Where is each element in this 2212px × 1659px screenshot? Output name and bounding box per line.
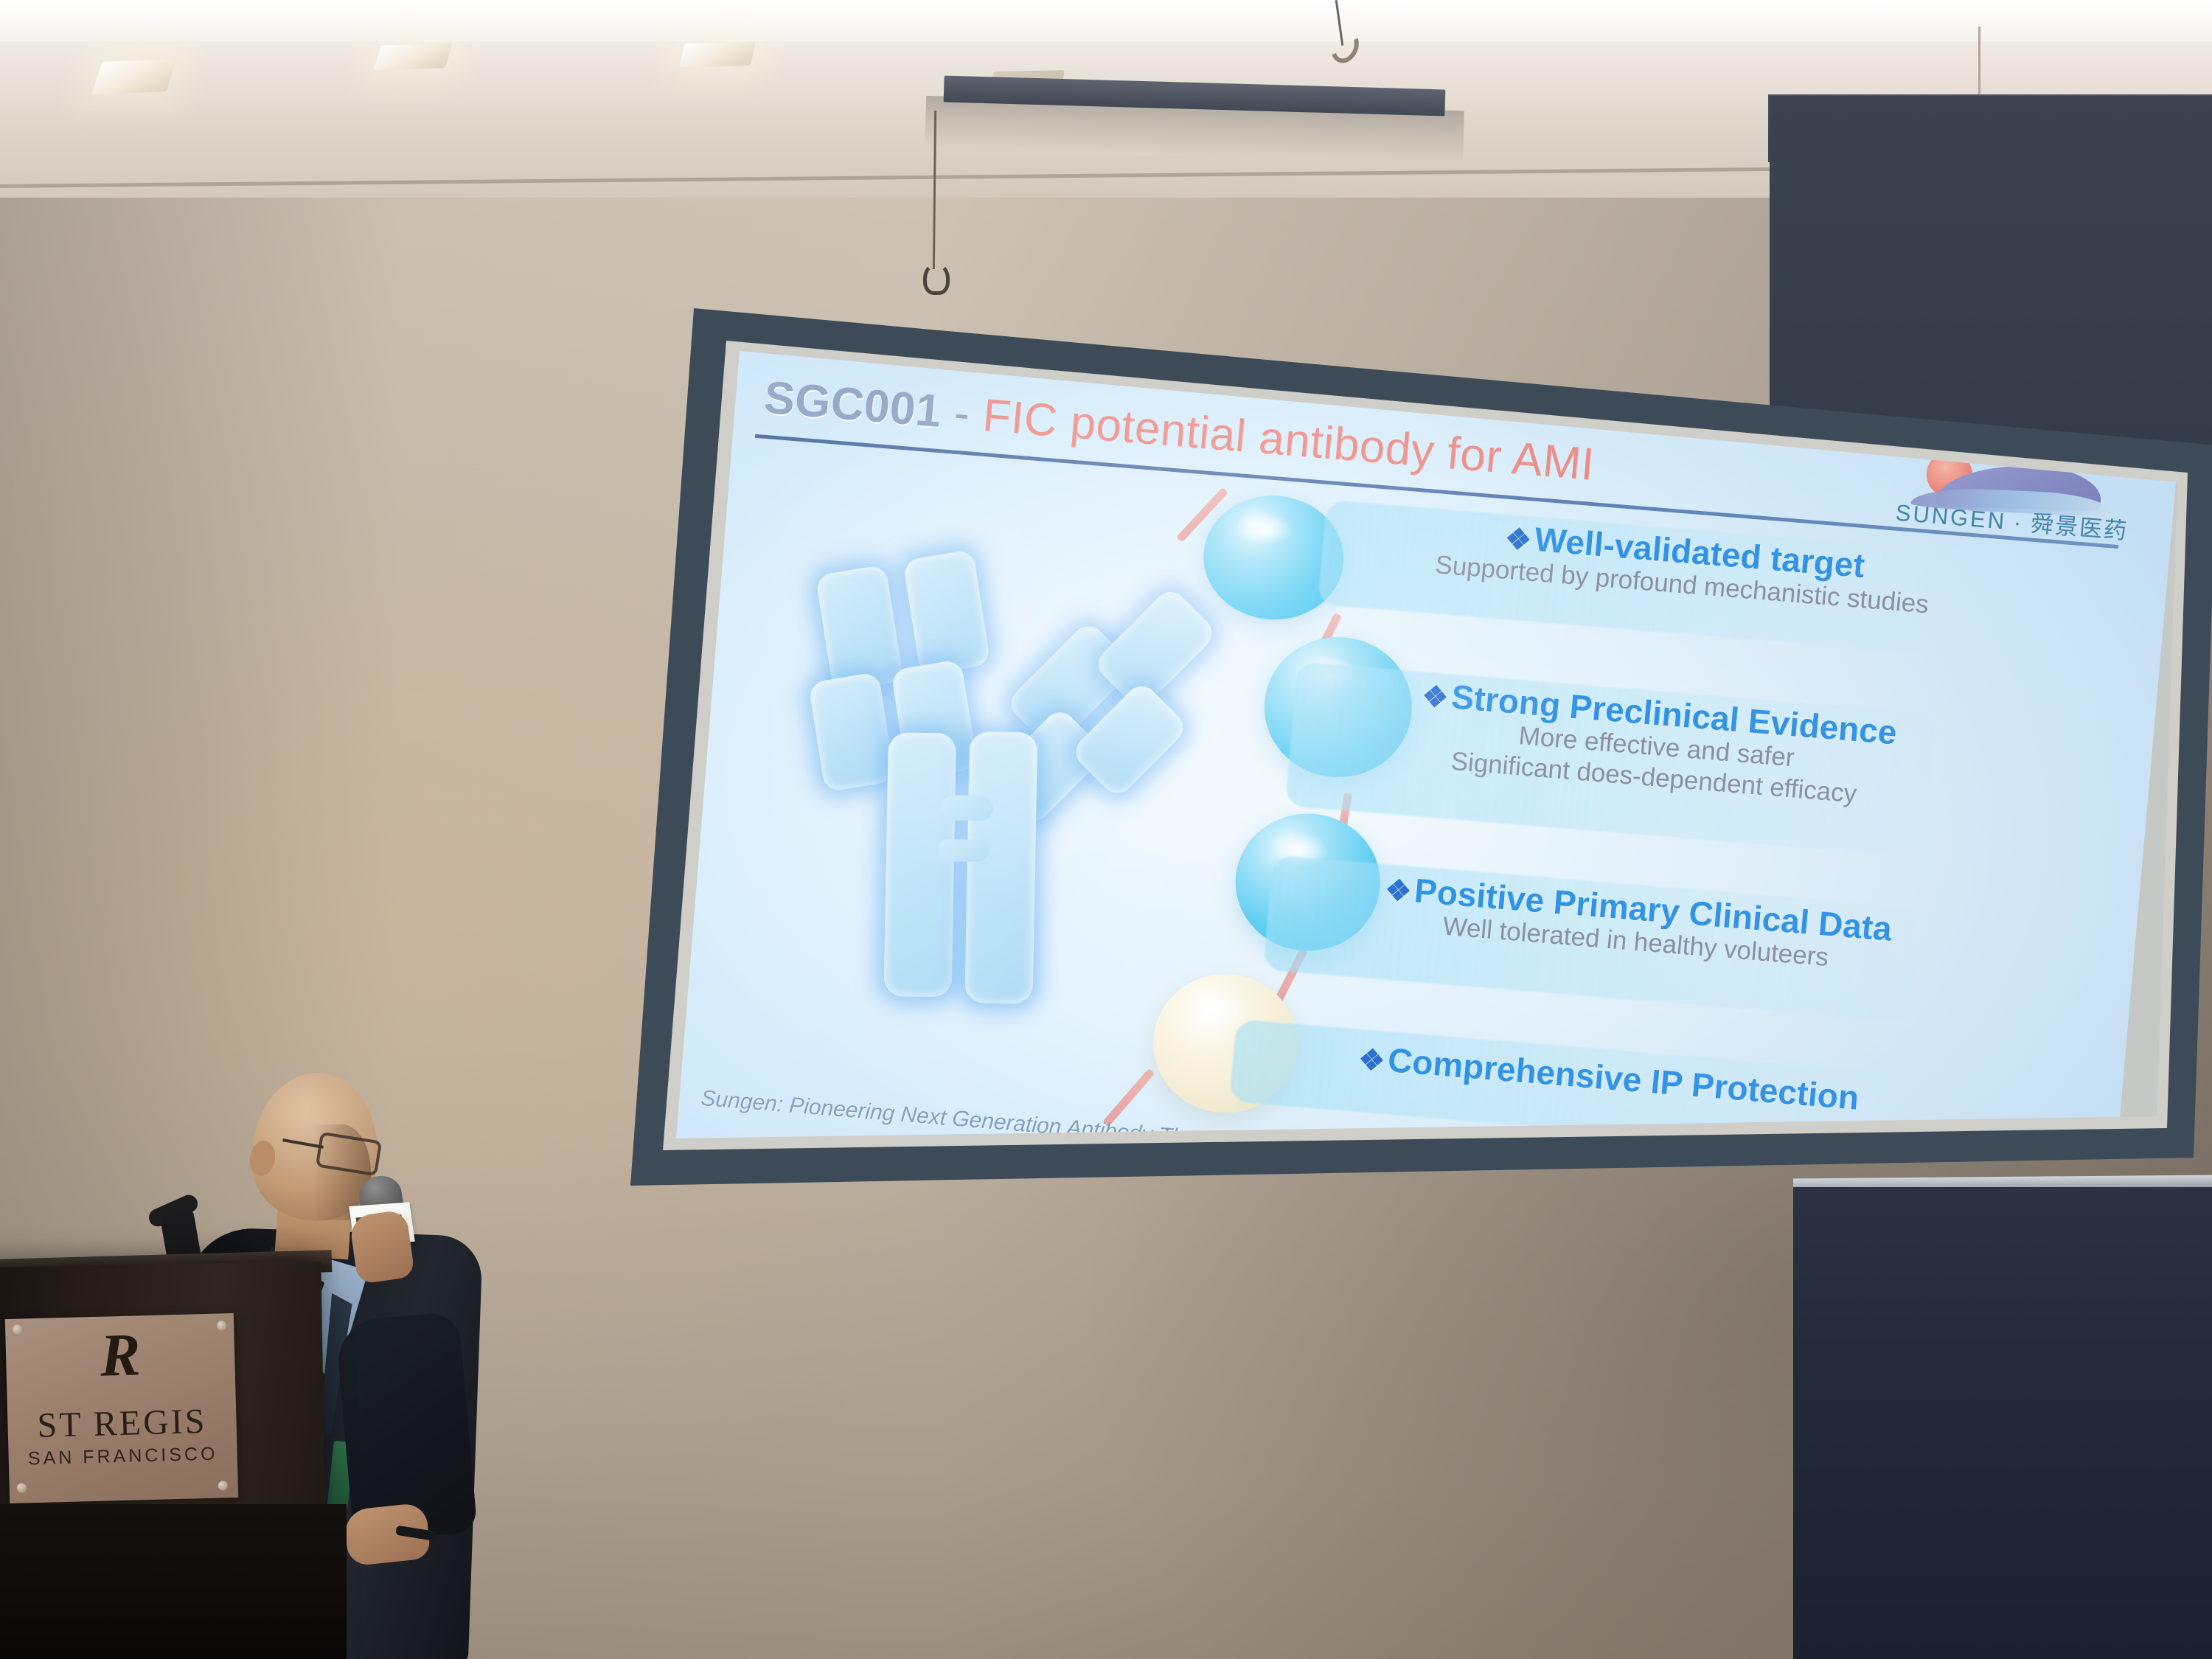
plaque-city-name: SAN FRANCISCO <box>8 1443 237 1470</box>
plaque-screw <box>17 1483 27 1492</box>
side-curtain-lower <box>1793 1187 2212 1659</box>
bullet-diamond-icon: ❖ <box>1384 874 1413 908</box>
presentation-slide: SGC001 - FIC potential antibody for AMI … <box>663 344 2177 1193</box>
floor-shadow <box>0 1504 347 1659</box>
plaque-hotel-name: ST REGIS <box>7 1400 237 1447</box>
cable-hook-icon <box>923 262 950 295</box>
sphere-highlight <box>1236 510 1295 547</box>
hand-holding-microphone <box>349 1209 415 1284</box>
title-product-code: SGC001 <box>762 372 944 437</box>
ceiling-light <box>679 42 756 68</box>
antibody-fab-arm <box>808 672 895 793</box>
antibody-fab-arm <box>815 564 904 692</box>
bullet-diamond-icon: ❖ <box>1357 1043 1387 1078</box>
antibody-hinge <box>937 839 990 862</box>
st-regis-monogram-icon: R <box>5 1322 235 1388</box>
podium-plaque: R ST REGIS SAN FRANCISCO <box>5 1313 238 1503</box>
antibody-fab-arm <box>902 549 990 675</box>
antibody-hinge <box>941 795 993 821</box>
antibody-fc-stem <box>964 731 1037 1004</box>
ceiling-light <box>91 59 177 94</box>
title-separator: - <box>952 388 972 439</box>
sphere-highlight <box>1186 990 1247 1031</box>
projection-screen: SGC001 - FIC potential antibody for AMI … <box>630 301 2212 1197</box>
bullet-diamond-icon: ❖ <box>1421 680 1450 714</box>
ceiling-edge-strip <box>0 0 2212 41</box>
bullet-diamond-icon: ❖ <box>1503 523 1533 557</box>
conference-room-photo: SGC001 - FIC potential antibody for AMI … <box>0 0 2212 1659</box>
linker-line <box>1102 1068 1155 1127</box>
ceiling-light <box>374 43 453 70</box>
antibody-fc-stem <box>883 732 956 997</box>
plaque-screw <box>218 1481 228 1490</box>
logo-middot: · <box>2013 509 2025 536</box>
